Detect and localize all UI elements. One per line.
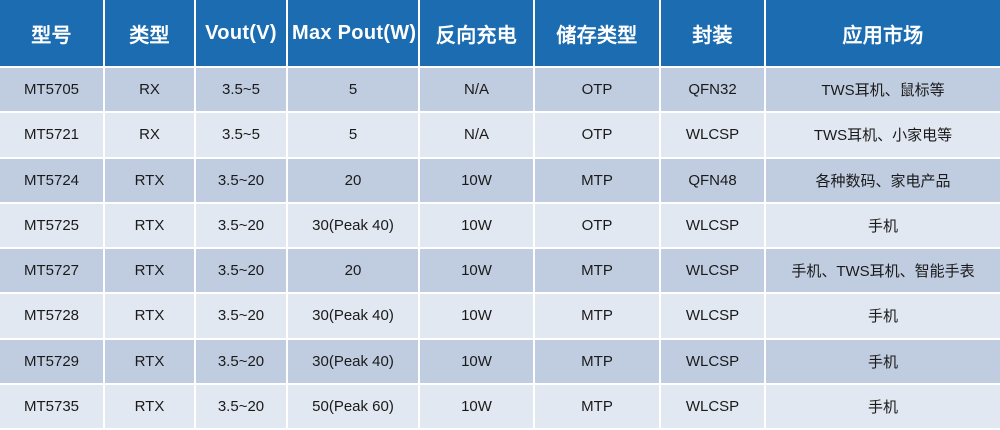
cell-revchg: N/A xyxy=(420,68,535,113)
cell-pout: 20 xyxy=(288,249,420,294)
cell-pout: 30(Peak 40) xyxy=(288,340,420,385)
table-row: MT5729RTX3.5~2030(Peak 40)10WMTPWLCSP手机 xyxy=(0,340,1000,385)
cell-package: QFN32 xyxy=(661,68,766,113)
cell-storage: MTP xyxy=(535,294,661,339)
cell-market: 手机、TWS耳机、智能手表 xyxy=(766,249,1000,294)
column-header-pout[interactable]: Max Pout(W) xyxy=(288,0,420,68)
cell-model: MT5728 xyxy=(0,294,105,339)
column-header-package[interactable]: 封装 xyxy=(661,0,766,68)
cell-storage: MTP xyxy=(535,249,661,294)
table-header: 型号类型Vout(V)Max Pout(W)反向充电储存类型封装应用市场 xyxy=(0,0,1000,68)
cell-market: 手机 xyxy=(766,385,1000,430)
cell-type: RTX xyxy=(105,204,196,249)
cell-package: WLCSP xyxy=(661,204,766,249)
column-header-storage[interactable]: 储存类型 xyxy=(535,0,661,68)
cell-market: TWS耳机、小家电等 xyxy=(766,113,1000,158)
cell-market: 手机 xyxy=(766,294,1000,339)
cell-revchg: N/A xyxy=(420,113,535,158)
table-row: MT5725RTX3.5~2030(Peak 40)10WOTPWLCSP手机 xyxy=(0,204,1000,249)
cell-storage: MTP xyxy=(535,159,661,204)
column-header-type[interactable]: 类型 xyxy=(105,0,196,68)
cell-package: WLCSP xyxy=(661,113,766,158)
cell-type: RTX xyxy=(105,159,196,204)
cell-storage: OTP xyxy=(535,113,661,158)
cell-vout: 3.5~5 xyxy=(196,113,288,158)
product-spec-table: 型号类型Vout(V)Max Pout(W)反向充电储存类型封装应用市场 MT5… xyxy=(0,0,1000,430)
cell-vout: 3.5~20 xyxy=(196,204,288,249)
cell-model: MT5729 xyxy=(0,340,105,385)
cell-model: MT5721 xyxy=(0,113,105,158)
table-header-row: 型号类型Vout(V)Max Pout(W)反向充电储存类型封装应用市场 xyxy=(0,0,1000,68)
cell-market: 手机 xyxy=(766,340,1000,385)
cell-model: MT5727 xyxy=(0,249,105,294)
table-row: MT5728RTX3.5~2030(Peak 40)10WMTPWLCSP手机 xyxy=(0,294,1000,339)
column-header-market[interactable]: 应用市场 xyxy=(766,0,1000,68)
cell-market: 手机 xyxy=(766,204,1000,249)
cell-vout: 3.5~20 xyxy=(196,294,288,339)
cell-vout: 3.5~20 xyxy=(196,385,288,430)
cell-model: MT5735 xyxy=(0,385,105,430)
cell-revchg: 10W xyxy=(420,385,535,430)
table-row: MT5724RTX3.5~202010WMTPQFN48各种数码、家电产品 xyxy=(0,159,1000,204)
cell-vout: 3.5~20 xyxy=(196,249,288,294)
cell-storage: MTP xyxy=(535,340,661,385)
cell-pout: 50(Peak 60) xyxy=(288,385,420,430)
cell-package: WLCSP xyxy=(661,340,766,385)
column-header-revchg[interactable]: 反向充电 xyxy=(420,0,535,68)
cell-storage: OTP xyxy=(535,204,661,249)
cell-revchg: 10W xyxy=(420,249,535,294)
cell-package: QFN48 xyxy=(661,159,766,204)
cell-pout: 5 xyxy=(288,113,420,158)
table-row: MT5705RX3.5~55N/AOTPQFN32TWS耳机、鼠标等 xyxy=(0,68,1000,113)
cell-market: 各种数码、家电产品 xyxy=(766,159,1000,204)
cell-type: RTX xyxy=(105,340,196,385)
table-row: MT5727RTX3.5~202010WMTPWLCSP手机、TWS耳机、智能手… xyxy=(0,249,1000,294)
cell-type: RX xyxy=(105,68,196,113)
cell-revchg: 10W xyxy=(420,340,535,385)
cell-revchg: 10W xyxy=(420,159,535,204)
cell-vout: 3.5~20 xyxy=(196,340,288,385)
cell-type: RTX xyxy=(105,249,196,294)
table-body: MT5705RX3.5~55N/AOTPQFN32TWS耳机、鼠标等MT5721… xyxy=(0,68,1000,430)
table-row: MT5735RTX3.5~2050(Peak 60)10WMTPWLCSP手机 xyxy=(0,385,1000,430)
cell-storage: OTP xyxy=(535,68,661,113)
cell-type: RTX xyxy=(105,294,196,339)
cell-model: MT5705 xyxy=(0,68,105,113)
cell-market: TWS耳机、鼠标等 xyxy=(766,68,1000,113)
table-row: MT5721RX3.5~55N/AOTPWLCSPTWS耳机、小家电等 xyxy=(0,113,1000,158)
cell-pout: 5 xyxy=(288,68,420,113)
cell-model: MT5725 xyxy=(0,204,105,249)
cell-pout: 30(Peak 40) xyxy=(288,204,420,249)
cell-package: WLCSP xyxy=(661,294,766,339)
cell-revchg: 10W xyxy=(420,204,535,249)
cell-revchg: 10W xyxy=(420,294,535,339)
cell-package: WLCSP xyxy=(661,385,766,430)
cell-type: RTX xyxy=(105,385,196,430)
cell-vout: 3.5~20 xyxy=(196,159,288,204)
cell-model: MT5724 xyxy=(0,159,105,204)
cell-package: WLCSP xyxy=(661,249,766,294)
cell-storage: MTP xyxy=(535,385,661,430)
cell-pout: 30(Peak 40) xyxy=(288,294,420,339)
cell-vout: 3.5~5 xyxy=(196,68,288,113)
column-header-model[interactable]: 型号 xyxy=(0,0,105,68)
column-header-vout[interactable]: Vout(V) xyxy=(196,0,288,68)
cell-pout: 20 xyxy=(288,159,420,204)
cell-type: RX xyxy=(105,113,196,158)
